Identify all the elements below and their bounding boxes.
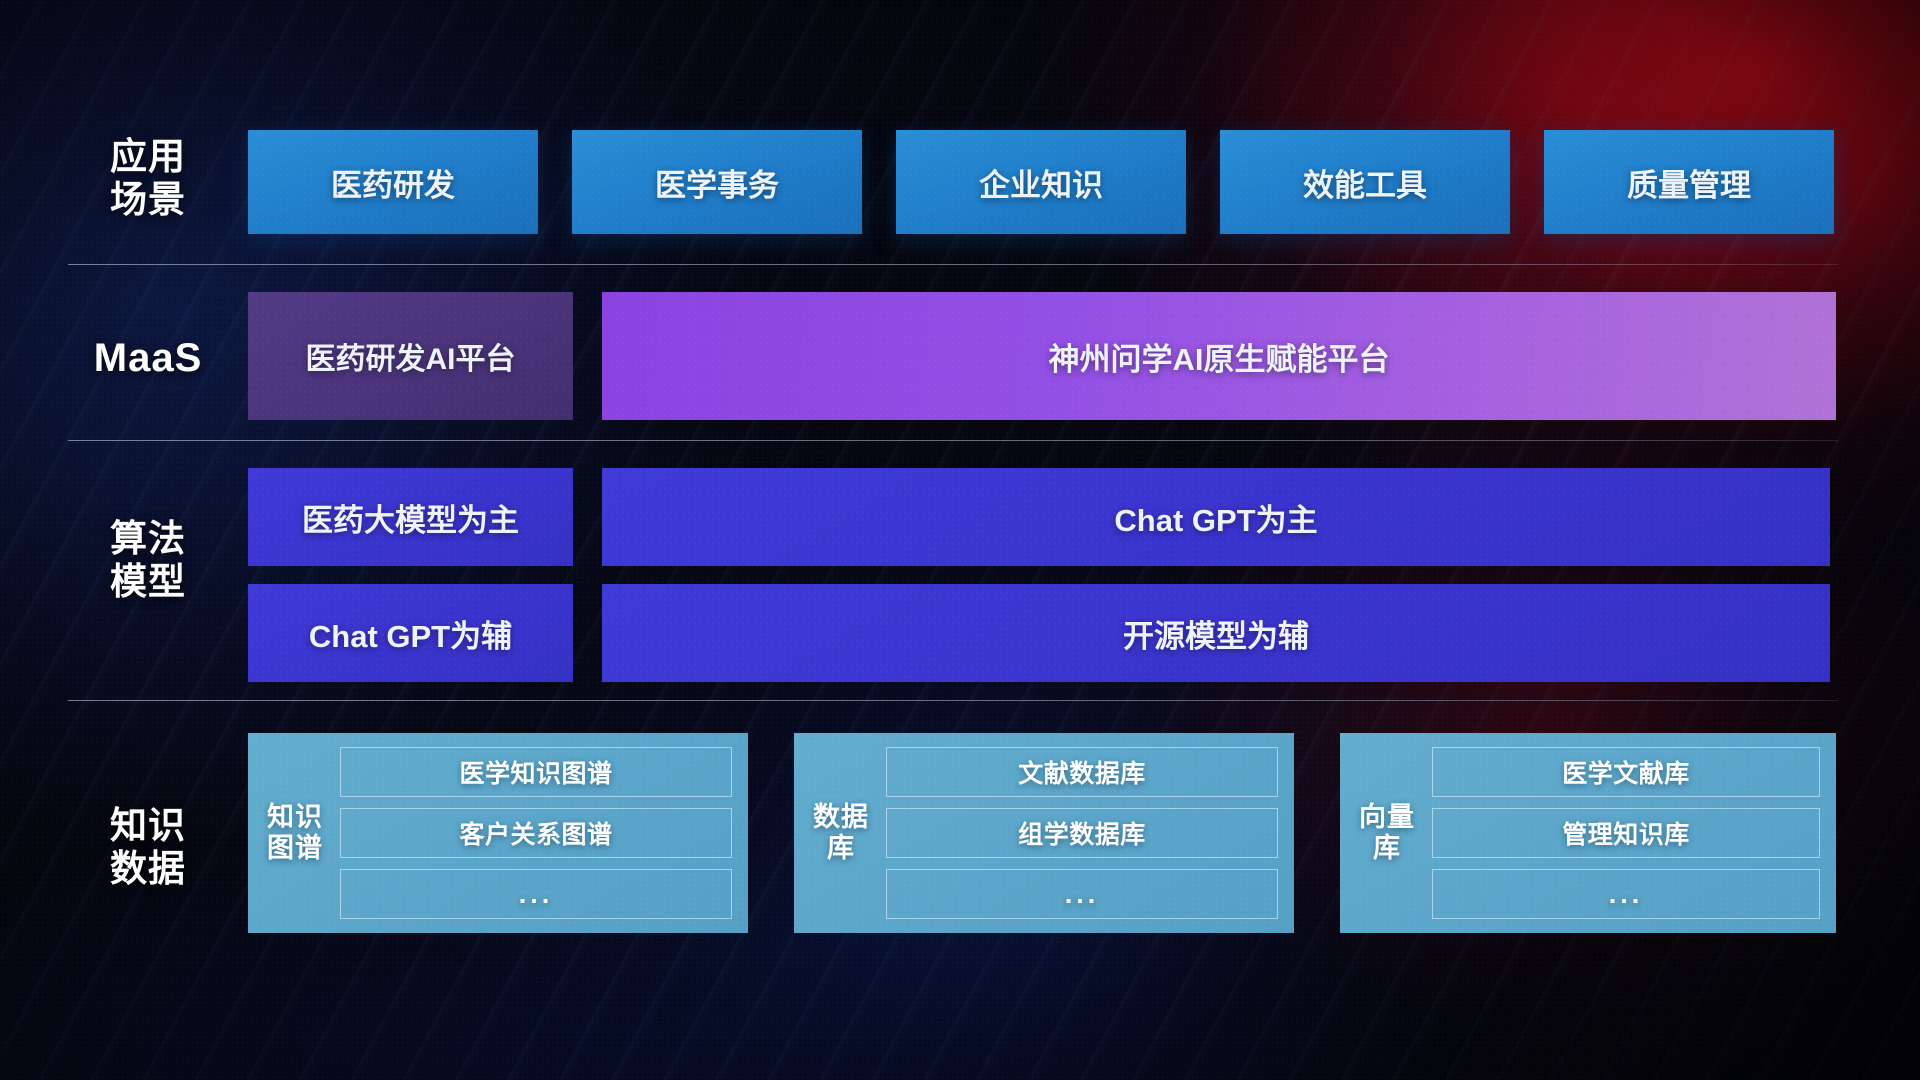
- row-label-line2: 模型: [68, 561, 228, 604]
- app-box-label: 医学事务: [655, 160, 779, 205]
- knowledge-item-more[interactable]: ...: [1432, 869, 1820, 919]
- slide-canvas: 应用 场景 医药研发 医学事务 企业知识 效能工具 质量管理 MaaS 医药研发…: [0, 0, 1920, 1080]
- algo-box-opensource-secondary[interactable]: 开源模型为辅: [602, 584, 1830, 682]
- knowledge-item[interactable]: 文献数据库: [886, 747, 1278, 797]
- knowledge-group-items: 医学知识图谱 客户关系图谱 ...: [340, 747, 732, 919]
- knowledge-group-database[interactable]: 数据库 文献数据库 组学数据库 ...: [794, 733, 1294, 933]
- divider-algorithm-knowledge: [68, 700, 1838, 701]
- row-label-text: MaaS: [68, 335, 228, 381]
- app-box-label: 效能工具: [1303, 160, 1427, 205]
- maas-box-label: 神州问学AI原生赋能平台: [1049, 334, 1390, 379]
- knowledge-item[interactable]: 管理知识库: [1432, 808, 1820, 858]
- maas-box-label: 医药研发AI平台: [306, 334, 516, 378]
- algo-box-pharma-llm-primary[interactable]: 医药大模型为主: [248, 468, 573, 566]
- algo-box-chatgpt-primary[interactable]: Chat GPT为主: [602, 468, 1830, 566]
- knowledge-group-title: 数据库: [810, 747, 872, 919]
- knowledge-item[interactable]: 客户关系图谱: [340, 808, 732, 858]
- knowledge-group-items: 文献数据库 组学数据库 ...: [886, 747, 1278, 919]
- divider-maas-algorithm: [68, 440, 1838, 441]
- knowledge-item-more[interactable]: ...: [340, 869, 732, 919]
- knowledge-group-title: 知识图谱: [264, 747, 326, 919]
- row-label-algorithm-model: 算法 模型: [68, 518, 228, 604]
- knowledge-item-more[interactable]: ...: [886, 869, 1278, 919]
- row-label-line2: 场景: [68, 179, 228, 222]
- row-label-line1: 应用: [68, 136, 228, 179]
- app-box-efficiency-tools[interactable]: 效能工具: [1220, 130, 1510, 234]
- row-label-knowledge-data: 知识 数据: [68, 805, 228, 891]
- maas-box-drug-rd-ai-platform[interactable]: 医药研发AI平台: [248, 292, 573, 420]
- app-box-quality-management[interactable]: 质量管理: [1544, 130, 1834, 234]
- app-box-label: 质量管理: [1627, 160, 1751, 205]
- row-label-maas: MaaS: [68, 335, 228, 381]
- knowledge-group-items: 医学文献库 管理知识库 ...: [1432, 747, 1820, 919]
- algo-box-label: 医药大模型为主: [302, 495, 519, 540]
- row-label-application-scenario: 应用 场景: [68, 136, 228, 222]
- algo-box-label: Chat GPT为辅: [309, 611, 512, 656]
- architecture-diagram: 应用 场景 医药研发 医学事务 企业知识 效能工具 质量管理 MaaS 医药研发…: [0, 0, 1920, 1080]
- knowledge-group-knowledge-graph[interactable]: 知识图谱 医学知识图谱 客户关系图谱 ...: [248, 733, 748, 933]
- knowledge-item[interactable]: 组学数据库: [886, 808, 1278, 858]
- algo-box-chatgpt-secondary[interactable]: Chat GPT为辅: [248, 584, 573, 682]
- row-label-line1: 知识: [68, 805, 228, 848]
- algo-box-label: 开源模型为辅: [1123, 611, 1309, 656]
- row-label-line2: 数据: [68, 848, 228, 891]
- algo-box-label: Chat GPT为主: [1114, 495, 1317, 540]
- app-box-medical-affairs[interactable]: 医学事务: [572, 130, 862, 234]
- maas-box-shenzhou-wenxue-platform[interactable]: 神州问学AI原生赋能平台: [602, 292, 1836, 420]
- row-label-line1: 算法: [68, 518, 228, 561]
- app-box-drug-rd[interactable]: 医药研发: [248, 130, 538, 234]
- knowledge-group-title: 向量库: [1356, 747, 1418, 919]
- divider-application-maas: [68, 264, 1838, 265]
- knowledge-item[interactable]: 医学知识图谱: [340, 747, 732, 797]
- knowledge-group-vector-store[interactable]: 向量库 医学文献库 管理知识库 ...: [1340, 733, 1836, 933]
- app-box-enterprise-knowledge[interactable]: 企业知识: [896, 130, 1186, 234]
- app-box-label: 企业知识: [979, 160, 1103, 205]
- app-box-label: 医药研发: [331, 160, 455, 205]
- knowledge-item[interactable]: 医学文献库: [1432, 747, 1820, 797]
